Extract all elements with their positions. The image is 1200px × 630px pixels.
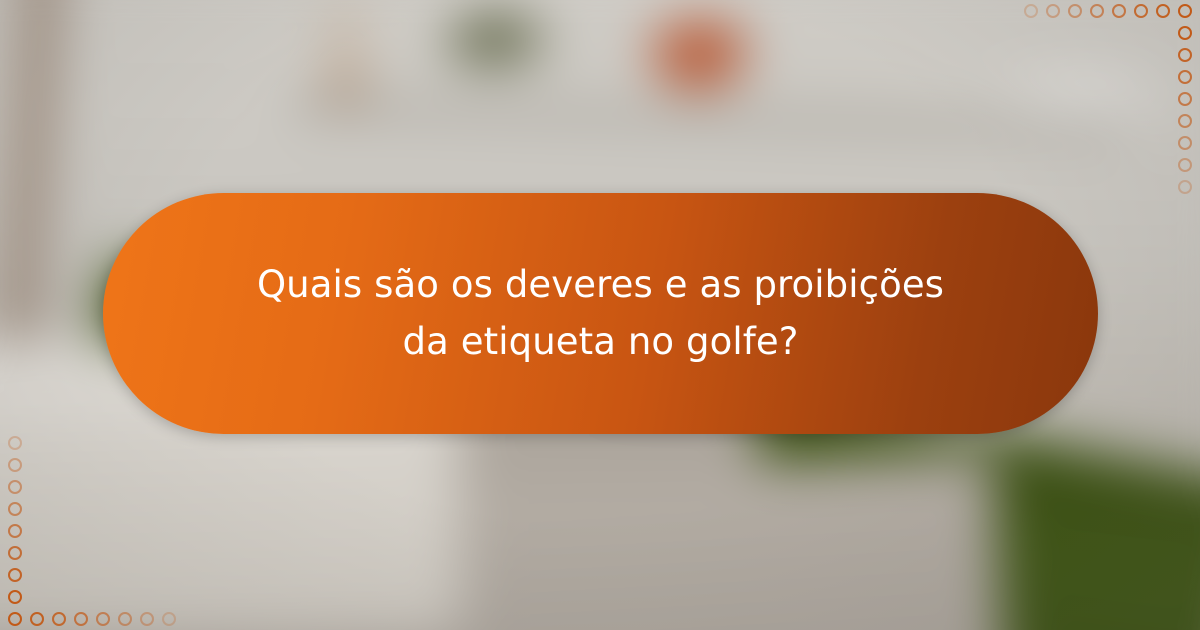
share-card-canvas: Quais são os deveres e as proibições da … bbox=[0, 0, 1200, 630]
headline-card: Quais são os deveres e as proibições da … bbox=[103, 193, 1098, 434]
headline-text: Quais são os deveres e as proibições da … bbox=[241, 257, 961, 369]
